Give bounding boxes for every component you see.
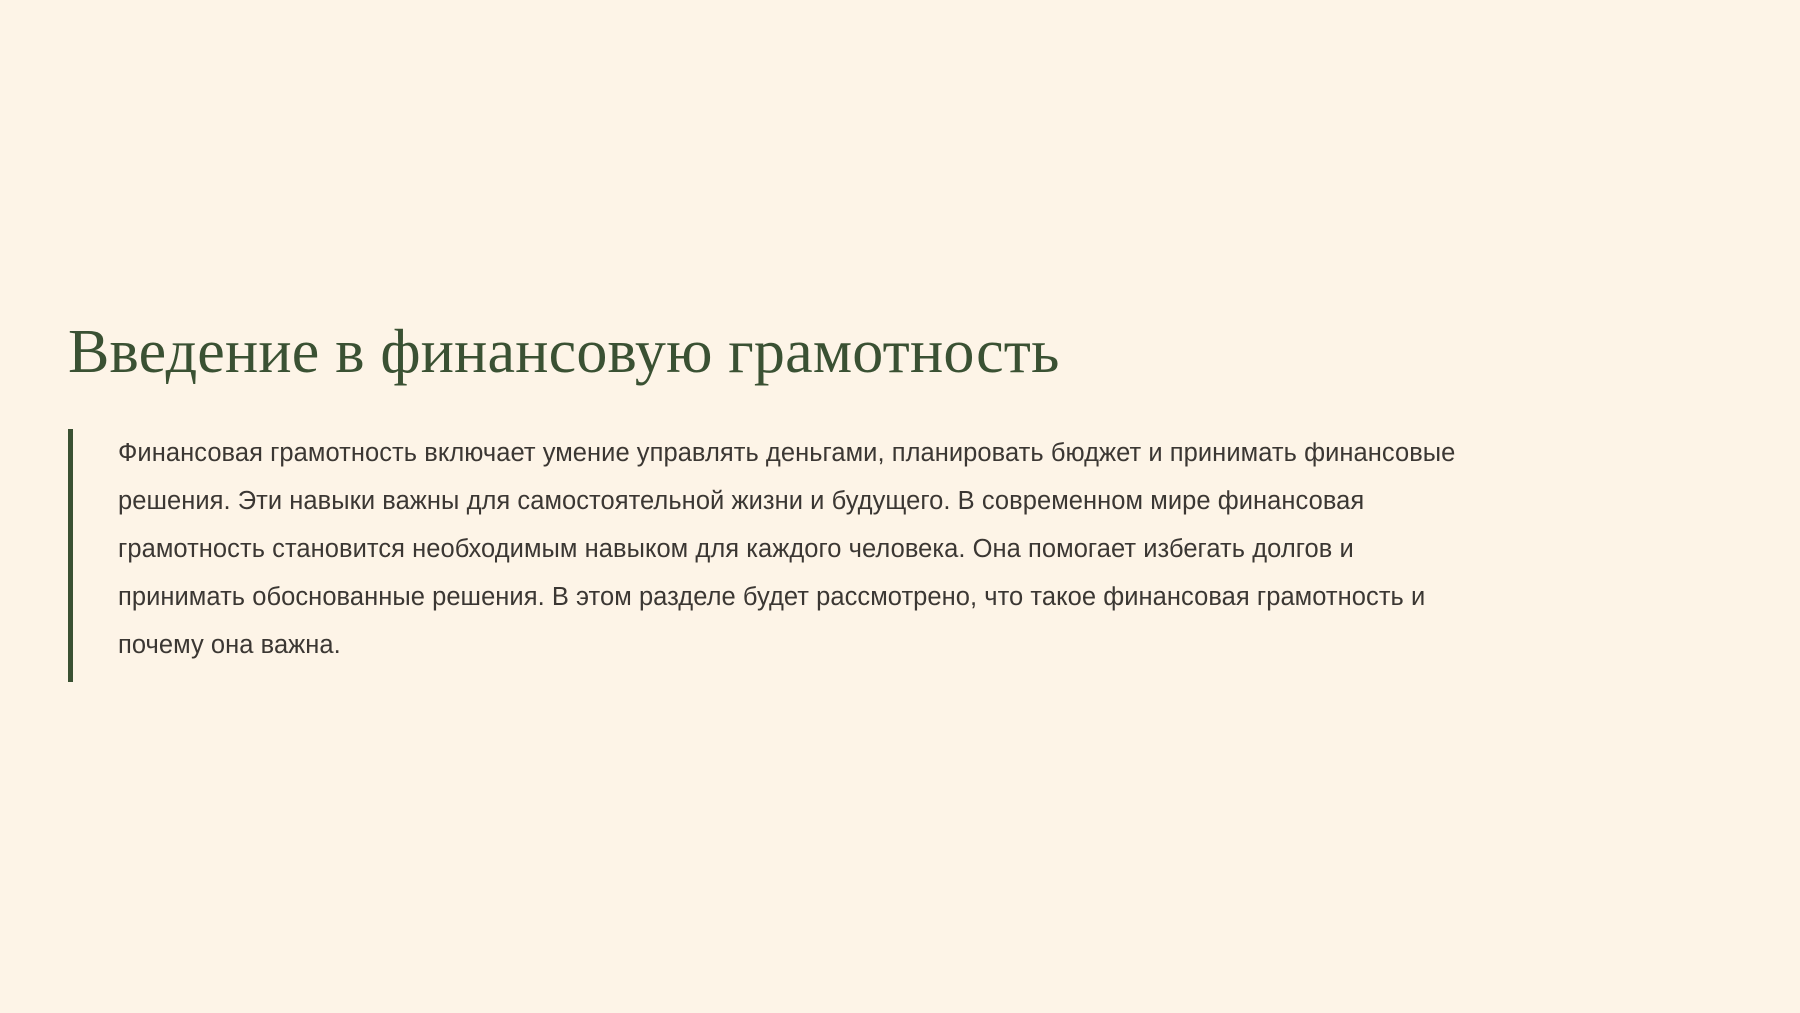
slide-canvas: Введение в финансовую грамотность Финанс… (0, 0, 1800, 1013)
body-paragraph: Финансовая грамотность включает умение у… (118, 429, 1468, 669)
vertical-accent-bar (68, 429, 73, 682)
slide-content: Введение в финансовую грамотность Финанс… (68, 318, 1708, 669)
page-title: Введение в финансовую грамотность (68, 318, 1708, 387)
body-block: Финансовая грамотность включает умение у… (68, 429, 1708, 669)
